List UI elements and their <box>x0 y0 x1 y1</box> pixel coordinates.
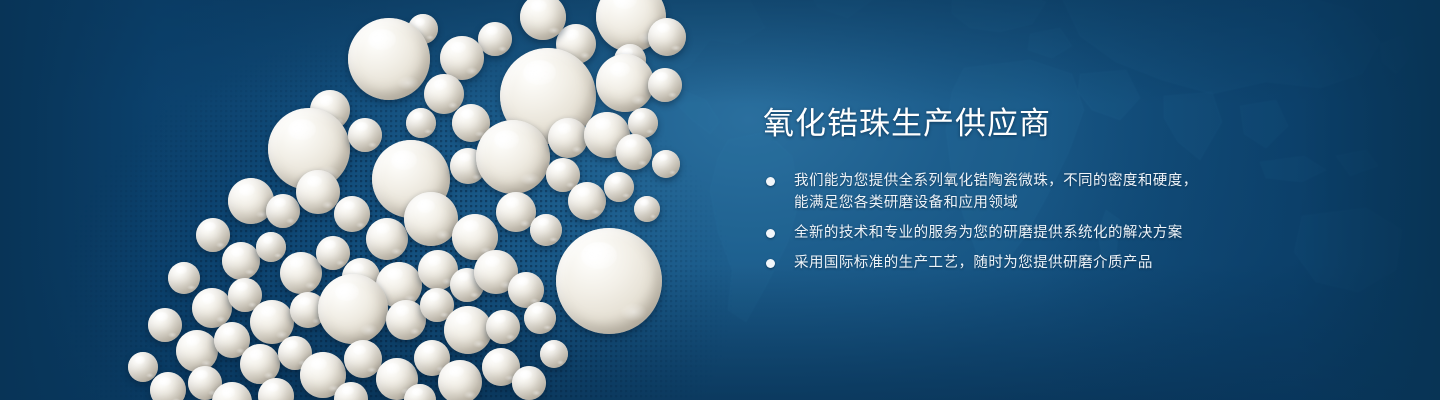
list-item-line: 我们能为您提供全系列氧化锆陶瓷微珠，不同的密度和硬度， <box>794 170 1216 192</box>
list-item-line: 能满足您各类研磨设备和应用领域 <box>794 192 1216 214</box>
banner-feature-list: 我们能为您提供全系列氧化锆陶瓷微珠，不同的密度和硬度， 能满足您各类研磨设备和应… <box>766 170 1216 274</box>
bullet-dot-icon <box>766 229 775 238</box>
bullet-dot-icon <box>766 259 775 268</box>
banner-headline: 氧化锆珠生产供应商 <box>763 108 1051 141</box>
banner-text-block: 氧化锆珠生产供应商 我们能为您提供全系列氧化锆陶瓷微珠，不同的密度和硬度， 能满… <box>763 0 1233 400</box>
list-item: 全新的技术和专业的服务为您的研磨提供系统化的解决方案 <box>766 222 1216 244</box>
zirconia-bead-cluster-image <box>0 0 780 400</box>
list-item-line: 采用国际标准的生产工艺，随时为您提供研磨介质产品 <box>794 252 1216 274</box>
list-item: 我们能为您提供全系列氧化锆陶瓷微珠，不同的密度和硬度， 能满足您各类研磨设备和应… <box>766 170 1216 214</box>
bullet-dot-icon <box>766 177 775 186</box>
list-item-line: 全新的技术和专业的服务为您的研磨提供系统化的解决方案 <box>794 222 1216 244</box>
list-item: 采用国际标准的生产工艺，随时为您提供研磨介质产品 <box>766 252 1216 274</box>
hero-banner: 氧化锆珠生产供应商 我们能为您提供全系列氧化锆陶瓷微珠，不同的密度和硬度， 能满… <box>0 0 1440 400</box>
